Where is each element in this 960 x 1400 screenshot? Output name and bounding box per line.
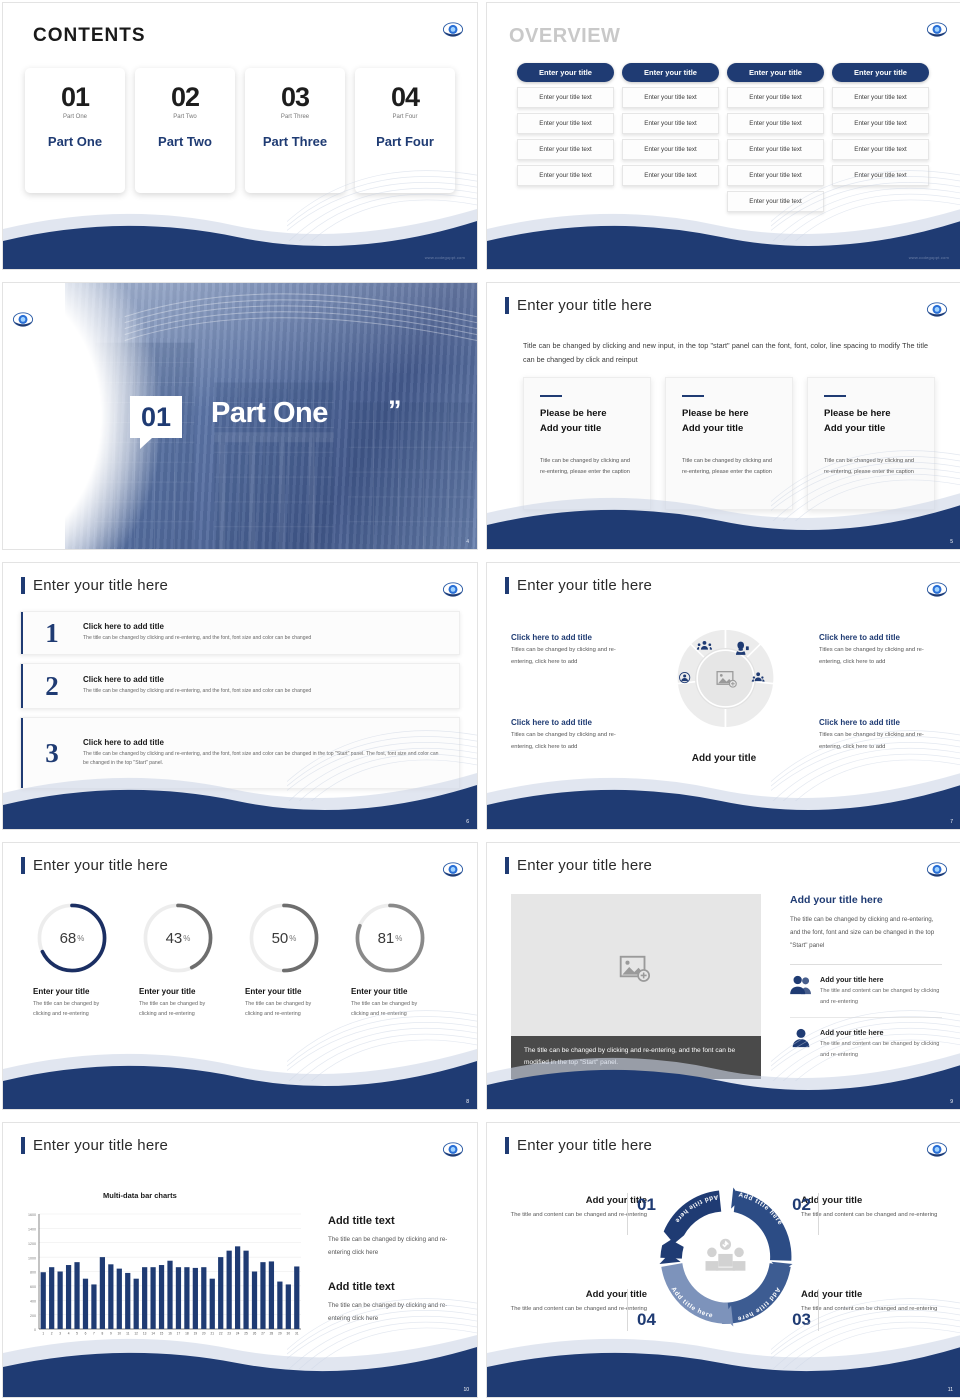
- overview-item[interactable]: Enter your title text: [727, 191, 824, 212]
- label-heading: Click here to add title: [511, 718, 631, 727]
- overview-item[interactable]: Enter your title text: [517, 165, 614, 186]
- page-title: CONTENTS: [33, 25, 146, 47]
- donut-stat[interactable]: 50% Enter your title The title can be ch…: [231, 901, 337, 1020]
- card-subtitle: Part One: [63, 114, 87, 120]
- list-text: Add your title here The title and conten…: [820, 1028, 942, 1060]
- divider-line: [627, 1193, 628, 1235]
- slide-deck-grid: CONTENTS 01 Part One Part One 02 Part Tw…: [0, 0, 960, 1400]
- page-number: 10: [463, 1387, 469, 1393]
- svg-text:11: 11: [126, 1332, 130, 1336]
- overview-item[interactable]: Enter your title text: [622, 165, 719, 186]
- svg-text:19: 19: [194, 1332, 198, 1336]
- quote-mark-icon: ”: [388, 395, 402, 426]
- slide-donut-stats[interactable]: Enter your title here 68%: [2, 842, 478, 1110]
- info-card[interactable]: Please be here Add your title Title can …: [523, 377, 651, 510]
- page-number: 7: [950, 819, 953, 825]
- svg-text:17: 17: [177, 1332, 181, 1336]
- overview-item[interactable]: Enter your title text: [517, 139, 614, 160]
- slide-contents[interactable]: CONTENTS 01 Part One Part One 02 Part Tw…: [2, 2, 478, 270]
- item-text: Click here to add title The title can be…: [83, 622, 445, 643]
- svg-text:1000: 1000: [28, 1256, 36, 1260]
- item-number: 2: [21, 671, 83, 702]
- column-header-pill[interactable]: Enter your title: [727, 63, 824, 82]
- panel-body: The title can be changed by clicking and…: [790, 913, 942, 952]
- overview-item[interactable]: Enter your title text: [832, 165, 929, 186]
- svg-text:3: 3: [59, 1332, 61, 1336]
- single-person-icon: [790, 1028, 812, 1060]
- svg-text:2: 2: [51, 1332, 53, 1336]
- svg-text:200: 200: [30, 1314, 36, 1318]
- stat-body: The title can be changed by clicking and…: [231, 999, 317, 1020]
- svg-text:28: 28: [270, 1332, 274, 1336]
- image-caption: The title can be changed by clicking and…: [511, 1036, 761, 1079]
- list-divider: [790, 1017, 942, 1018]
- slide-image-and-list[interactable]: Enter your title here The title can be c…: [486, 842, 960, 1110]
- donut-ring: 81%: [353, 901, 427, 975]
- title-block: Enter your title here: [505, 1137, 652, 1154]
- donut-stat[interactable]: 43% Enter your title The title can be ch…: [125, 901, 231, 1020]
- list-item[interactable]: 3 Click here to add title The title can …: [20, 717, 460, 789]
- list-text: Add your title here The title and conten…: [820, 975, 942, 1007]
- brand-logo-icon: [925, 579, 949, 601]
- overview-columns: Enter your title Enter your title text E…: [517, 63, 929, 212]
- brand-logo-icon: [441, 1139, 465, 1161]
- numbered-row-list: 1 Click here to add title The title can …: [20, 611, 460, 797]
- list-heading: Add your title here: [820, 975, 942, 984]
- wave-decoration: [3, 1039, 477, 1109]
- svg-text:13: 13: [143, 1332, 147, 1336]
- info-card[interactable]: Please be here Add your title Title can …: [665, 377, 793, 510]
- svg-text:12: 12: [134, 1332, 138, 1336]
- card-number: 04: [391, 84, 419, 111]
- title-accent-bar: [505, 297, 509, 314]
- label-body: Titles can be changed by clicking and re…: [819, 730, 939, 753]
- stat-body: The title can be changed by clicking and…: [337, 999, 423, 1020]
- overview-item[interactable]: Enter your title text: [517, 87, 614, 108]
- list-item[interactable]: Add your title here The title and conten…: [790, 975, 942, 1007]
- overview-item[interactable]: Enter your title text: [622, 87, 719, 108]
- title-accent-bar: [21, 577, 25, 594]
- divider-line: [818, 1289, 819, 1331]
- stat-heading: Enter your title: [231, 987, 337, 996]
- chart-side-text: Add title text The title can be changed …: [328, 1215, 468, 1325]
- svg-text:14: 14: [151, 1332, 155, 1336]
- contents-card-list: 01 Part One Part One 02 Part Two Part Tw…: [25, 68, 455, 193]
- diagram-label-top-right: Click here to add title Titles can be ch…: [819, 633, 939, 668]
- page-number: 11: [948, 1387, 953, 1393]
- svg-text:400: 400: [30, 1299, 36, 1303]
- card-body: Title can be changed by clicking and re-…: [824, 456, 918, 478]
- svg-text:1: 1: [42, 1332, 44, 1336]
- brand-logo-icon: [441, 19, 465, 41]
- item-number: 3: [21, 738, 83, 769]
- list-item[interactable]: 1 Click here to add title The title can …: [20, 611, 460, 655]
- bar-chart: 0200400600800100012001400160012345678910…: [17, 1208, 305, 1345]
- card-subtitle: Part Four: [392, 114, 417, 120]
- overview-item[interactable]: Enter your title text: [727, 139, 824, 160]
- card-list: Please be here Add your title Title can …: [523, 377, 935, 510]
- card-accent-dash: [540, 395, 562, 397]
- svg-text:4: 4: [68, 1332, 70, 1336]
- section-title: Part One: [211, 397, 328, 430]
- svg-text:23: 23: [227, 1332, 231, 1336]
- item-heading: Add your title: [801, 1289, 939, 1300]
- page-number: 4: [466, 539, 469, 545]
- label-body: Titles can be changed by clicking and re…: [511, 730, 631, 753]
- list-heading: Add your title here: [820, 1028, 942, 1037]
- slide-cycle-diagram[interactable]: Enter your title here Add your title The…: [486, 1122, 960, 1398]
- title-block: Enter your title here: [505, 577, 652, 594]
- item-number: 1: [21, 618, 83, 649]
- svg-text:5: 5: [76, 1332, 78, 1336]
- overview-column: Enter your title Enter your title text E…: [622, 63, 719, 212]
- overview-column: Enter your title Enter your title text E…: [727, 63, 824, 212]
- label-heading: Click here to add title: [819, 718, 939, 727]
- svg-text:20: 20: [202, 1332, 206, 1336]
- two-people-icon: [790, 975, 812, 1007]
- card-label: Part Four: [376, 134, 434, 149]
- donut-value: 68%: [35, 901, 109, 975]
- donut-ring: 43%: [141, 901, 215, 975]
- donut-value: 81%: [353, 901, 427, 975]
- card-label: Part Three: [263, 134, 327, 149]
- stat-body: The title can be changed by clicking and…: [125, 999, 211, 1020]
- card-label: Part One: [48, 134, 102, 149]
- svg-text:25: 25: [244, 1332, 248, 1336]
- donut-value: 43%: [141, 901, 215, 975]
- column-header-pill[interactable]: Enter your title: [517, 63, 614, 82]
- item-heading: Click here to add title: [83, 675, 445, 684]
- item-body: The title and content can be changed and…: [801, 1304, 939, 1315]
- list-body: The title and content can be changed by …: [820, 986, 942, 1007]
- diagram-label-top-left: Click here to add title Titles can be ch…: [511, 633, 631, 668]
- label-heading: Click here to add title: [819, 633, 939, 642]
- card-number: 02: [171, 84, 199, 111]
- svg-text:15: 15: [160, 1332, 164, 1336]
- diagram-caption: Add your title: [487, 753, 960, 764]
- overview-column: Enter your title Enter your title text E…: [832, 63, 929, 212]
- card-subtitle: Part Two: [173, 114, 197, 120]
- info-card[interactable]: Please be here Add your title Title can …: [807, 377, 935, 510]
- slide-part-one-divider[interactable]: 01 Part One ” Title can be changed by cl…: [2, 282, 478, 550]
- cycle-item-02-text: Add your title The title and content can…: [801, 1195, 939, 1221]
- wave-decoration: [487, 1327, 960, 1397]
- overview-item[interactable]: Enter your title text: [832, 87, 929, 108]
- contents-card[interactable]: 02 Part Two Part Two: [135, 68, 235, 193]
- circle-diagram-area: Click here to add title Titles can be ch…: [487, 623, 960, 813]
- divider-line: [627, 1289, 628, 1331]
- panel-divider: [790, 964, 942, 965]
- card-accent-dash: [682, 395, 704, 397]
- stat-heading: Enter your title: [125, 987, 231, 996]
- overview-item[interactable]: Enter your title text: [832, 113, 929, 134]
- page-title: Enter your title here: [517, 857, 652, 874]
- item-text: Click here to add title The title can be…: [83, 738, 445, 768]
- block-heading: Add title text: [328, 1215, 468, 1227]
- svg-text:0: 0: [34, 1328, 36, 1332]
- card-body: Title can be changed by clicking and re-…: [540, 456, 634, 478]
- side-panel: Add your title here The title can be cha…: [790, 894, 942, 1071]
- page-title: Enter your title here: [33, 577, 168, 594]
- slide-numbered-list[interactable]: Enter your title here 1 Click here to ad…: [2, 562, 478, 830]
- list-body: The title and content can be changed by …: [820, 1039, 942, 1060]
- stat-heading: Enter your title: [19, 987, 125, 996]
- brand-logo-icon: [11, 309, 35, 331]
- overview-item[interactable]: Enter your title text: [622, 113, 719, 134]
- svg-text:30: 30: [287, 1332, 291, 1336]
- page-title: Enter your title here: [33, 857, 168, 874]
- svg-text:1200: 1200: [28, 1242, 36, 1246]
- overview-item[interactable]: Enter your title text: [727, 87, 824, 108]
- svg-text:1600: 1600: [28, 1213, 36, 1217]
- item-text: Click here to add title The title can be…: [83, 675, 445, 696]
- contents-card[interactable]: 03 Part Three Part Three: [245, 68, 345, 193]
- svg-text:10: 10: [118, 1332, 122, 1336]
- page-title: Enter your title here: [517, 1137, 652, 1154]
- donut-stat[interactable]: 68% Enter your title The title can be ch…: [19, 901, 125, 1020]
- item-heading: Click here to add title: [83, 622, 445, 631]
- column-header-pill[interactable]: Enter your title: [832, 63, 929, 82]
- item-body: The title can be changed by clicking and…: [83, 750, 445, 768]
- block-body: The title can be changed by clicking and…: [328, 1299, 468, 1325]
- block-body: The title can be changed by clicking and…: [328, 1233, 468, 1259]
- label-body: Titles can be changed by clicking and re…: [819, 645, 939, 668]
- svg-text:24: 24: [236, 1332, 240, 1336]
- contents-card[interactable]: 01 Part One Part One: [25, 68, 125, 193]
- watermark: www.codegoppt.com: [909, 255, 949, 260]
- page-number: 9: [950, 1099, 953, 1105]
- title-accent-bar: [505, 1137, 509, 1154]
- title-accent-bar: [505, 857, 509, 874]
- card-label: Part Two: [158, 134, 212, 149]
- card-heading: Please be here Add your title: [540, 407, 634, 436]
- donut-ring: 50%: [247, 901, 321, 975]
- circle-diagram: [673, 626, 778, 731]
- title-accent-bar: [505, 577, 509, 594]
- item-heading: Add your title: [801, 1195, 939, 1206]
- slide-bar-chart[interactable]: Enter your title here Multi-data bar cha…: [2, 1122, 478, 1398]
- brand-logo-icon: [441, 859, 465, 881]
- item-body: The title and content can be changed and…: [801, 1210, 939, 1221]
- overview-item[interactable]: Enter your title text: [727, 165, 824, 186]
- stat-body: The title can be changed by clicking and…: [19, 999, 105, 1020]
- svg-text:31: 31: [295, 1332, 299, 1336]
- svg-text:7: 7: [93, 1332, 95, 1336]
- brand-logo-icon: [925, 299, 949, 321]
- title-accent-bar: [21, 857, 25, 874]
- donut-ring: 68%: [35, 901, 109, 975]
- diagram-label-bottom-right: Click here to add title Titles can be ch…: [819, 718, 939, 753]
- card-number: 01: [61, 84, 89, 111]
- section-number-badge: 01: [130, 396, 182, 438]
- svg-text:600: 600: [30, 1285, 36, 1289]
- brand-logo-icon: [925, 1139, 949, 1161]
- card-heading: Please be here Add your title: [824, 407, 918, 436]
- svg-text:21: 21: [210, 1332, 214, 1336]
- list-item[interactable]: Add your title here The title and conten…: [790, 1028, 942, 1060]
- svg-text:27: 27: [261, 1332, 265, 1336]
- item-body: The title can be changed by clicking and…: [83, 687, 445, 696]
- diagram-label-bottom-left: Click here to add title Titles can be ch…: [511, 718, 631, 753]
- page-number: 5: [950, 539, 953, 545]
- page-number: 8: [466, 1099, 469, 1105]
- brand-logo-icon: [441, 579, 465, 601]
- brand-logo-icon: [925, 19, 949, 41]
- svg-text:16: 16: [168, 1332, 172, 1336]
- overview-item[interactable]: Enter your title text: [832, 139, 929, 160]
- donut-value: 50%: [247, 901, 321, 975]
- title-block: Enter your title here: [21, 577, 168, 594]
- svg-text:8: 8: [101, 1332, 103, 1336]
- watermark: www.codegoppt.com: [425, 255, 465, 260]
- page-title: Enter your title here: [517, 577, 652, 594]
- panel-heading: Add your title here: [790, 894, 942, 906]
- image-placeholder-icon: [619, 954, 653, 989]
- item-heading: Click here to add title: [83, 738, 445, 747]
- divider-line: [818, 1193, 819, 1235]
- chart-title: Multi-data bar charts: [103, 1191, 177, 1200]
- title-block: Enter your title here: [21, 1137, 168, 1154]
- page-number: 6: [466, 819, 469, 825]
- svg-text:800: 800: [30, 1271, 36, 1275]
- contents-card[interactable]: 04 Part Four Part Four: [355, 68, 455, 193]
- overview-column: Enter your title Enter your title text E…: [517, 63, 614, 212]
- svg-text:18: 18: [185, 1332, 189, 1336]
- block-heading: Add title text: [328, 1281, 468, 1293]
- overview-item[interactable]: Enter your title text: [727, 113, 824, 134]
- card-accent-dash: [824, 395, 846, 397]
- svg-text:22: 22: [219, 1332, 223, 1336]
- brand-logo-icon: [925, 859, 949, 881]
- lead-paragraph: Title can be changed by clicking and new…: [523, 339, 928, 366]
- svg-text:1400: 1400: [28, 1228, 36, 1232]
- donut-stat-list: 68% Enter your title The title can be ch…: [19, 901, 443, 1020]
- slide-three-cards[interactable]: Enter your title here Title can be chang…: [486, 282, 960, 550]
- wave-decoration: [3, 199, 477, 269]
- title-accent-bar: [21, 1137, 25, 1154]
- item-body: The title can be changed by clicking and…: [83, 634, 445, 643]
- overview-item[interactable]: Enter your title text: [622, 139, 719, 160]
- card-number: 03: [281, 84, 309, 111]
- card-subtitle: Part Three: [281, 114, 309, 120]
- list-item[interactable]: 2 Click here to add title The title can …: [20, 663, 460, 709]
- title-block: Enter your title here: [21, 857, 168, 874]
- page-title: Enter your title here: [33, 1137, 168, 1154]
- label-body: Titles can be changed by clicking and re…: [511, 645, 631, 668]
- donut-stat[interactable]: 81% Enter your title The title can be ch…: [337, 901, 443, 1020]
- svg-text:26: 26: [253, 1332, 257, 1336]
- image-frame[interactable]: The title can be changed by clicking and…: [511, 894, 761, 1079]
- card-heading: Please be here Add your title: [682, 407, 776, 436]
- slide-circle-icons[interactable]: Enter your title here Click here to add …: [486, 562, 960, 830]
- svg-text:29: 29: [278, 1332, 282, 1336]
- label-heading: Click here to add title: [511, 633, 631, 642]
- cycle-ring-diagram: Add title here Add title here Add title …: [650, 1181, 802, 1333]
- overview-item[interactable]: Enter your title text: [517, 113, 614, 134]
- title-block: Enter your title here: [505, 297, 652, 314]
- svg-text:6: 6: [85, 1332, 87, 1336]
- page-title: OVERVIEW: [509, 25, 620, 48]
- page-title: Enter your title here: [517, 297, 652, 314]
- slide-overview[interactable]: OVERVIEW Enter your title Enter your tit…: [486, 2, 960, 270]
- card-body: Title can be changed by clicking and re-…: [682, 456, 776, 478]
- svg-text:9: 9: [110, 1332, 112, 1336]
- column-header-pill[interactable]: Enter your title: [622, 63, 719, 82]
- stat-heading: Enter your title: [337, 987, 443, 996]
- cycle-item-03-text: Add your title The title and content can…: [801, 1289, 939, 1315]
- title-block: Enter your title here: [505, 857, 652, 874]
